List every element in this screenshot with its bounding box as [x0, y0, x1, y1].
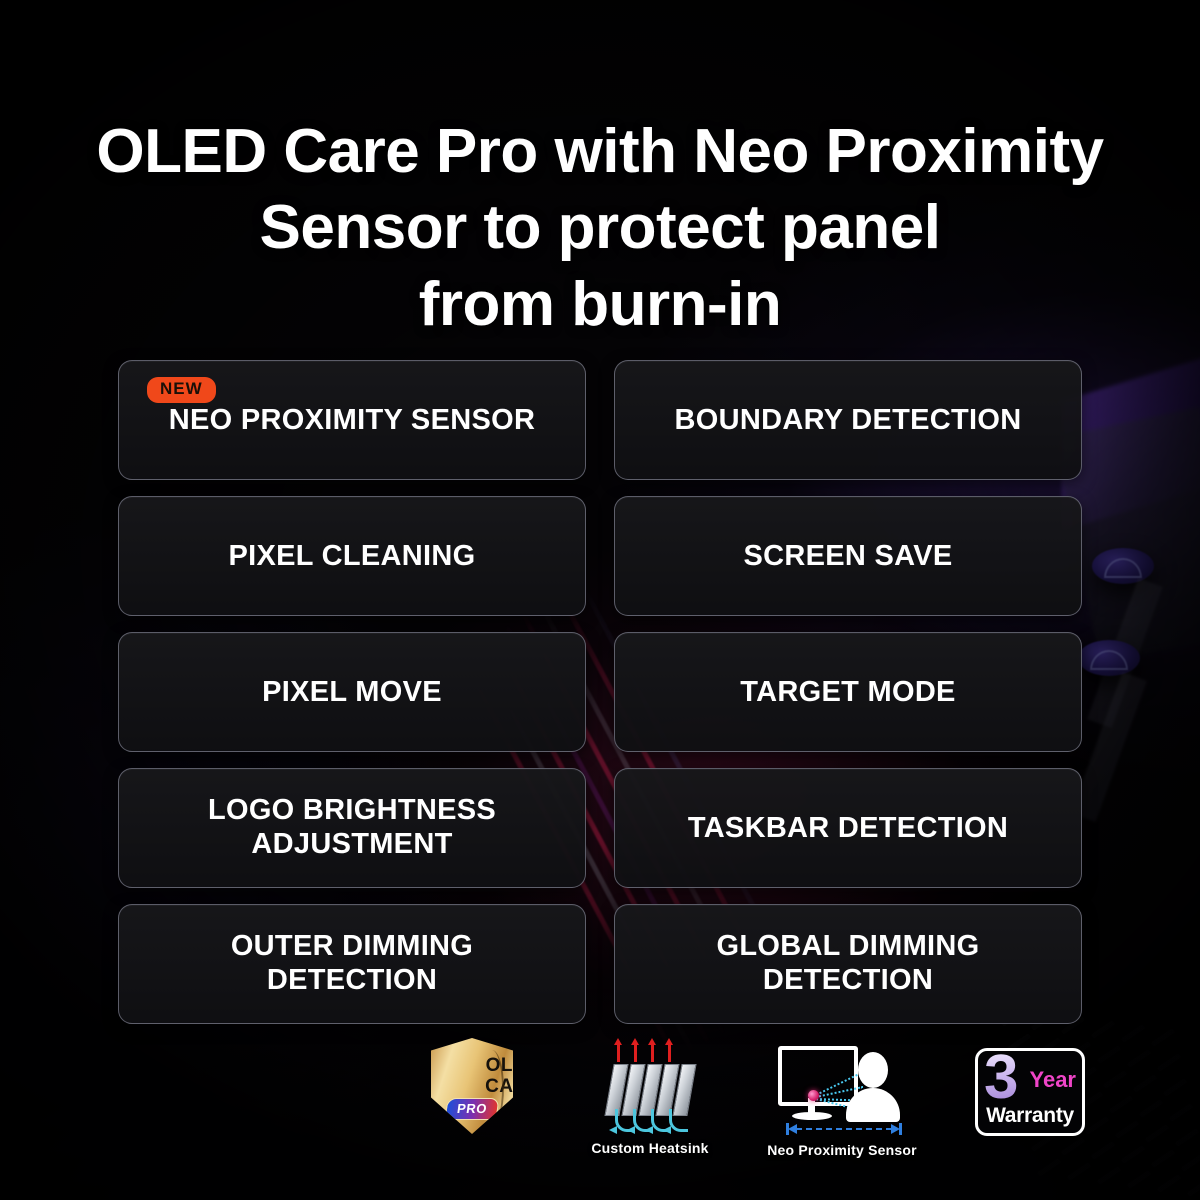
feature-card-grid: NEWNEO PROXIMITY SENSORBOUNDARY DETECTIO… — [118, 360, 1082, 1024]
ruler-end-right — [899, 1123, 902, 1135]
background-vent-slat — [1187, 1178, 1200, 1197]
background-vent-slat — [1151, 1028, 1175, 1047]
feature-card[interactable]: NEWNEO PROXIMITY SENSOR — [118, 360, 586, 480]
background-vent-slat — [1097, 1045, 1121, 1064]
warranty-icon: 3 Year Warranty — [975, 1048, 1085, 1136]
custom-heatsink-badge: Custom Heatsink — [570, 1042, 730, 1156]
distance-ruler-icon — [786, 1124, 902, 1134]
background-knob — [1078, 640, 1140, 676]
heatsink-caption: Custom Heatsink — [570, 1140, 730, 1156]
feature-card-label: TASKBAR DETECTION — [674, 811, 1022, 845]
ruler-line — [796, 1128, 892, 1130]
warranty-year-label: Year — [1030, 1069, 1077, 1091]
background-knob — [1092, 548, 1154, 584]
background-vent-slat — [1127, 1049, 1151, 1068]
background-vent-slat — [1157, 1174, 1181, 1193]
background-vent-slat — [1091, 1020, 1115, 1039]
heat-out-arrow-icon — [634, 1044, 637, 1062]
background-vent-slat — [1151, 1149, 1175, 1168]
heatsink-icon — [595, 1042, 705, 1134]
feature-card-label: LOGO BRIGHTNESS ADJUSTMENT — [194, 793, 510, 861]
proximity-sensor-icon — [772, 1040, 912, 1136]
background-vent-slat — [1097, 1166, 1121, 1185]
feature-card-label: PIXEL MOVE — [248, 675, 456, 709]
feature-card-label: SCREEN SAVE — [729, 539, 966, 573]
bottom-badge-row: OLED CARE PRO Custom Heatsink — [400, 1038, 1100, 1173]
feature-card[interactable]: PIXEL CLEANING — [118, 496, 586, 616]
background-vent-slat — [1181, 1153, 1200, 1172]
feature-card-label: TARGET MODE — [726, 675, 969, 709]
background-vent-slat — [1139, 1099, 1163, 1118]
heat-out-arrow-icon — [617, 1044, 620, 1062]
sensor-dot-icon — [808, 1090, 819, 1101]
feature-card-label: NEO PROXIMITY SENSOR — [119, 403, 585, 437]
background-vent-slat — [1121, 1024, 1145, 1043]
background-vent-slat — [1127, 1170, 1151, 1189]
monitor-base-icon — [792, 1112, 832, 1120]
feature-card[interactable]: OUTER DIMMING DETECTION — [118, 904, 586, 1024]
promo-page: OLED Care Pro with Neo Proximity Sensor … — [0, 0, 1200, 1200]
heat-out-arrow-icon — [668, 1044, 671, 1062]
feature-card[interactable]: TASKBAR DETECTION — [614, 768, 1082, 888]
warranty-number: 3 — [984, 1047, 1018, 1109]
background-vent-slat — [1157, 1053, 1181, 1072]
feature-card[interactable]: SCREEN SAVE — [614, 496, 1082, 616]
background-vent-slat — [1121, 1145, 1145, 1164]
warranty-badge: 3 Year Warranty — [970, 1048, 1090, 1136]
feature-card[interactable]: LOGO BRIGHTNESS ADJUSTMENT — [118, 768, 586, 888]
proximity-caption: Neo Proximity Sensor — [752, 1142, 932, 1158]
feature-card[interactable]: GLOBAL DIMMING DETECTION — [614, 904, 1082, 1024]
background-vent-slat — [1145, 1124, 1169, 1143]
oled-care-pro-badge: OLED CARE PRO — [422, 1038, 522, 1134]
feature-card-label: OUTER DIMMING DETECTION — [217, 929, 487, 997]
person-head-icon — [858, 1052, 888, 1088]
warranty-word: Warranty — [978, 1104, 1082, 1128]
feature-card[interactable]: BOUNDARY DETECTION — [614, 360, 1082, 480]
feature-card-label: GLOBAL DIMMING DETECTION — [702, 929, 993, 997]
feature-card[interactable]: TARGET MODE — [614, 632, 1082, 752]
background-vent-slat — [1109, 1095, 1133, 1114]
background-vent-slat — [1115, 1120, 1139, 1139]
air-in-arrow-icon — [669, 1109, 688, 1132]
background-vent-slat — [1103, 1070, 1127, 1089]
feature-card-label: PIXEL CLEANING — [215, 539, 490, 573]
page-title-line-3: from burn-in — [0, 267, 1200, 344]
background-vent-slat — [1163, 1078, 1187, 1097]
page-title: OLED Care Pro with Neo Proximity Sensor … — [0, 114, 1200, 345]
page-title-line-1: OLED Care Pro with Neo Proximity — [0, 114, 1200, 191]
background-vent-slat — [1133, 1074, 1157, 1093]
page-title-line-2: Sensor to protect panel — [0, 190, 1200, 267]
background-vent-slat — [1175, 1128, 1199, 1147]
feature-card-label: BOUNDARY DETECTION — [661, 403, 1036, 437]
shield-icon: OLED CARE PRO — [431, 1038, 513, 1134]
neo-proximity-sensor-badge: Neo Proximity Sensor — [752, 1040, 932, 1158]
background-vent-slat — [1169, 1103, 1193, 1122]
heat-out-arrow-icon — [651, 1044, 654, 1062]
new-badge: NEW — [147, 377, 216, 403]
feature-card[interactable]: PIXEL MOVE — [118, 632, 586, 752]
